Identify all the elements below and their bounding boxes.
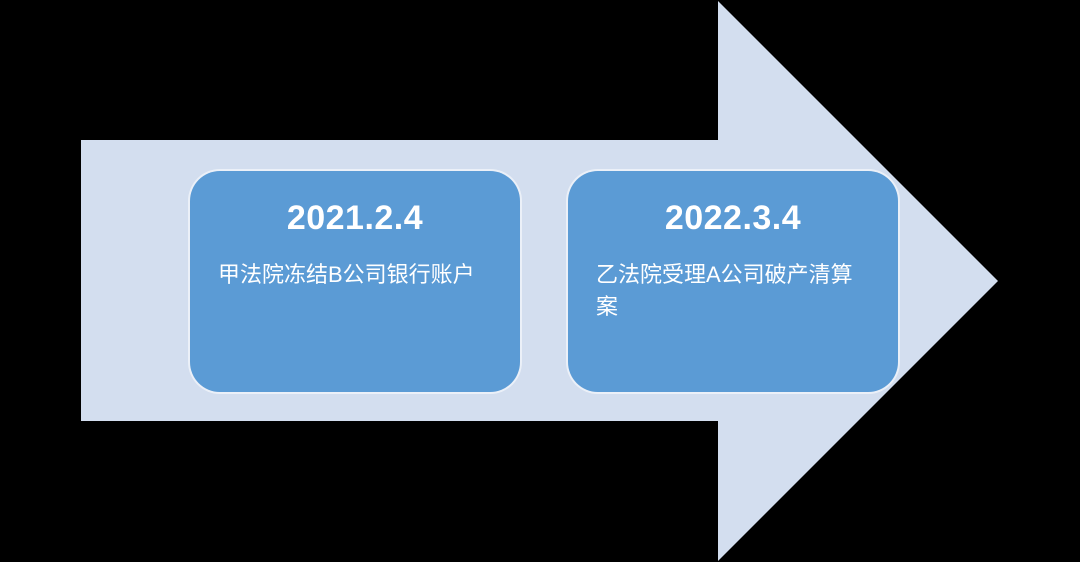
milestone-date: 2021.2.4 — [218, 197, 492, 239]
right-arrow-icon — [0, 0, 1080, 562]
milestone-description: 乙法院受理A公司破产清算案 — [596, 259, 870, 323]
milestone-card-2[interactable]: 2022.3.4 乙法院受理A公司破产清算案 — [568, 171, 898, 392]
milestone-description: 甲法院冻结B公司银行账户 — [218, 259, 492, 291]
milestone-card-1[interactable]: 2021.2.4 甲法院冻结B公司银行账户 — [190, 171, 520, 392]
milestone-date: 2022.3.4 — [596, 197, 870, 239]
timeline-arrow-diagram: 2021.2.4 甲法院冻结B公司银行账户 2022.3.4 乙法院受理A公司破… — [0, 0, 1080, 562]
